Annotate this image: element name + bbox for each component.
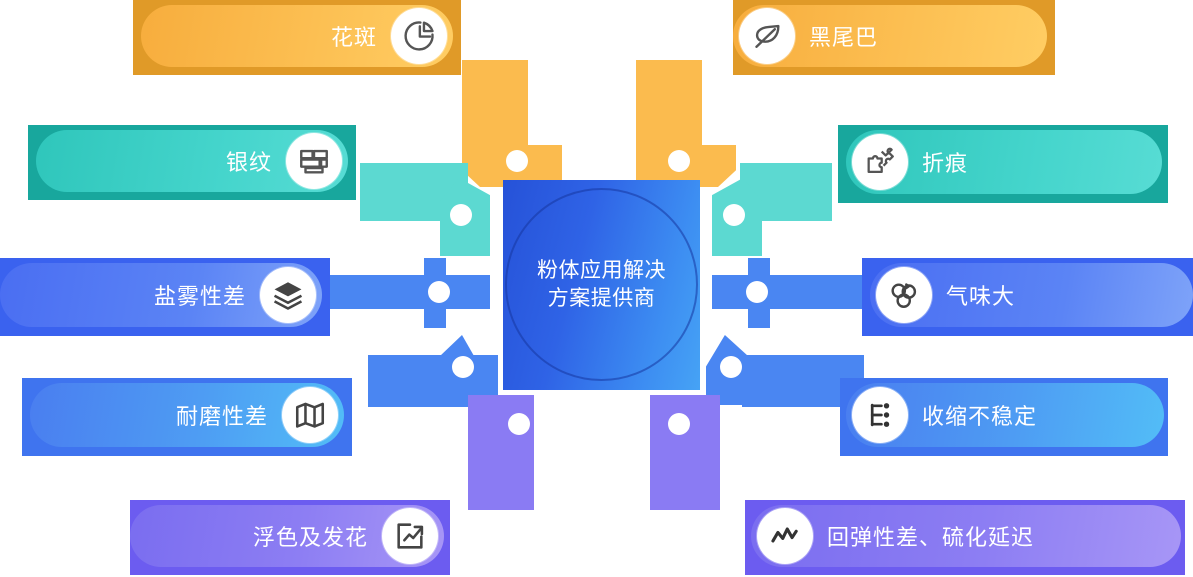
left-item-1[interactable]: 花斑 [133, 0, 461, 75]
right-item-4[interactable]: 收缩不稳定 [840, 378, 1168, 456]
pill-label: 耐磨性差 [176, 399, 268, 431]
center-label: 粉体应用解决 方案提供商 [503, 180, 700, 390]
pill-body[interactable]: 盐雾性差 [0, 263, 322, 327]
right-item-1[interactable]: 黑尾巴 [733, 0, 1055, 75]
line-chart-icon [757, 508, 813, 564]
pill-body[interactable]: 黑尾巴 [733, 5, 1047, 67]
left-item-2[interactable]: 银纹 [28, 125, 356, 200]
pill-body[interactable]: 折痕 [846, 130, 1162, 194]
trend-up-icon [382, 508, 438, 564]
pill-body[interactable]: 回弹性差、硫化延迟 [751, 505, 1181, 567]
pill-body[interactable]: 银纹 [36, 130, 348, 192]
sitemap-icon [852, 387, 908, 443]
puzzle-icon [852, 134, 908, 190]
pill-label: 浮色及发花 [253, 520, 368, 552]
center-node: 粉体应用解决 方案提供商 [503, 180, 700, 390]
pill-label: 折痕 [922, 146, 968, 178]
pill-label: 回弹性差、硫化延迟 [827, 520, 1034, 552]
pill-body[interactable]: 花斑 [141, 5, 453, 67]
right-item-3[interactable]: 气味大 [862, 258, 1193, 336]
layers-icon [260, 267, 316, 323]
left-item-5[interactable]: 浮色及发花 [130, 500, 450, 575]
map-icon [282, 387, 338, 443]
leaf-icon [739, 8, 795, 64]
pill-label: 盐雾性差 [154, 279, 246, 311]
left-item-3[interactable]: 盐雾性差 [0, 258, 330, 336]
right-item-2[interactable]: 折痕 [838, 125, 1168, 203]
pill-body[interactable]: 浮色及发花 [130, 505, 444, 567]
pill-body[interactable]: 收缩不稳定 [846, 383, 1164, 447]
pill-label: 花斑 [331, 20, 377, 52]
infographic-canvas: 粉体应用解决 方案提供商 花斑 银纹 [0, 0, 1193, 577]
pill-label: 收缩不稳定 [922, 399, 1037, 431]
pie-chart-icon [391, 8, 447, 64]
right-item-5[interactable]: 回弹性差、硫化延迟 [745, 500, 1185, 575]
pill-body[interactable]: 气味大 [870, 263, 1193, 327]
pill-label: 黑尾巴 [809, 20, 878, 52]
pill-label: 气味大 [946, 279, 1015, 311]
recycle-icon [876, 267, 932, 323]
pill-body[interactable]: 耐磨性差 [30, 383, 344, 447]
left-item-4[interactable]: 耐磨性差 [22, 378, 352, 456]
pill-label: 银纹 [226, 145, 272, 177]
brick-wall-icon [286, 133, 342, 189]
